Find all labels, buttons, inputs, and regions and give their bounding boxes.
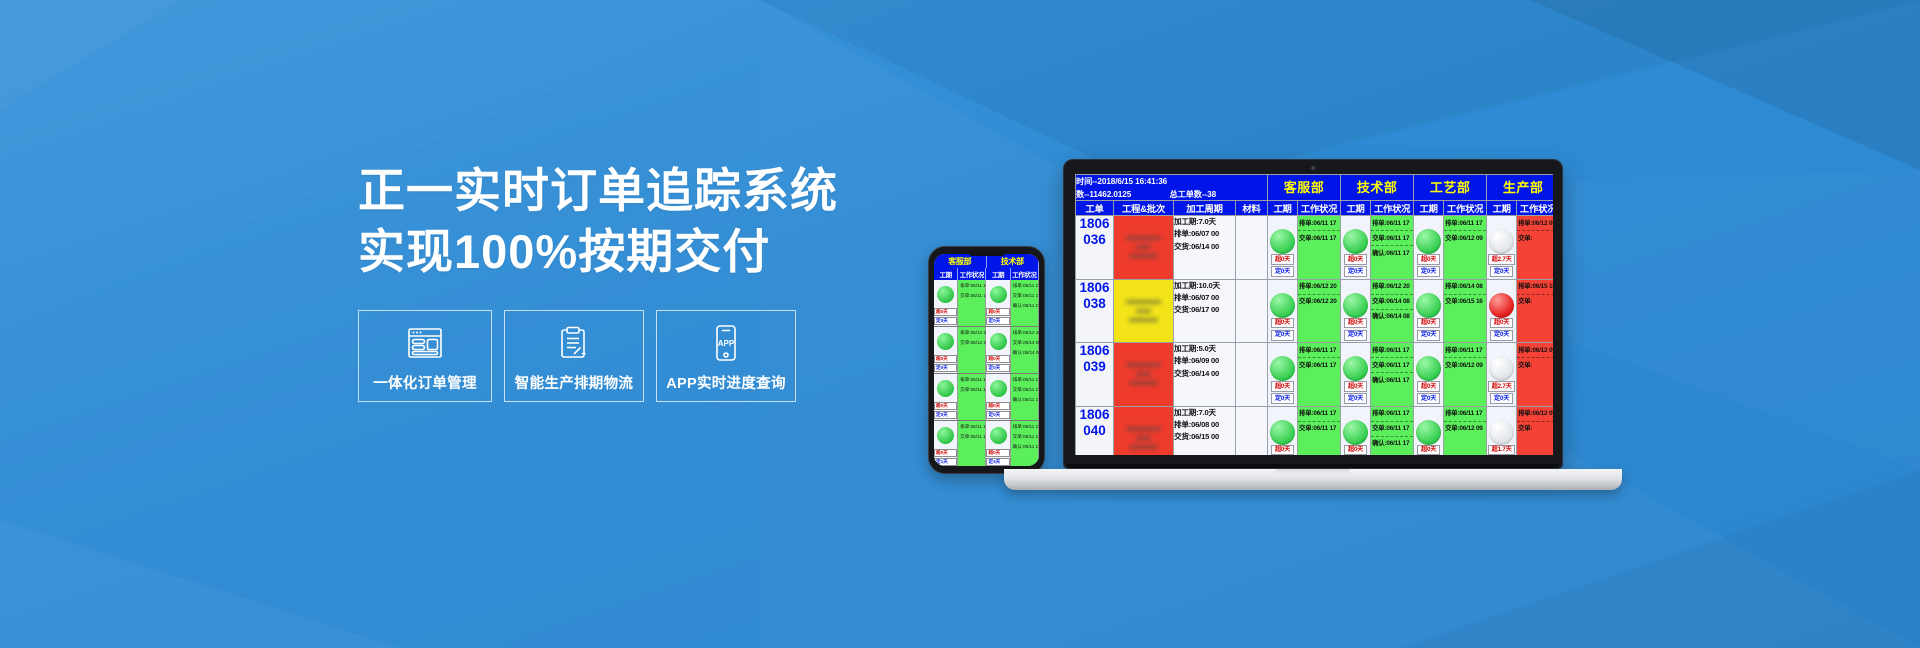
cycle-line: 交货:06/14 00 (1174, 368, 1235, 380)
day-tags: 超0天定0天 (1268, 318, 1297, 341)
hero-text-block: 正一实时订单追踪系统 实现100%按期交付 (358, 160, 898, 402)
table-row[interactable]: 1806040加工期:7.0天排单:06/08 00交货:06/15 00超0天… (1076, 406, 1554, 455)
fixed-days-badge: 定0天 (1344, 266, 1366, 277)
phone-subhead-gongqi-2: 工期 (986, 268, 1010, 280)
phone-status-dot-green (990, 380, 1007, 397)
cycle-line: 加工期:5.0天 (1174, 343, 1235, 355)
phone-over-days-badge: 超0天 (986, 355, 1009, 363)
phone-status-dot-green (937, 286, 954, 303)
cycle-line: 交货:06/17 00 (1174, 304, 1235, 316)
dept-header-shengchan: 生产部 (1487, 175, 1553, 201)
period-cell-1: 超0天定4天 (1341, 406, 1371, 455)
status-line: 交单:06/11 17 (1371, 422, 1413, 437)
meta-counts: 数--11462.0125 总工单数--38 (1076, 188, 1267, 200)
phone-status-line: 排单:06/11 17 (1011, 421, 1038, 431)
work-order-line-2: 036 (1076, 232, 1113, 248)
project-batch-cell (1114, 406, 1174, 455)
status-line: 交单:06/11 17 (1371, 358, 1413, 373)
table-row[interactable]: 1806038加工期:10.0天排单:06/07 00交货:06/17 00超0… (1076, 279, 1554, 343)
col-header-3-0: 工期 (1487, 201, 1517, 216)
browser-window-icon (406, 323, 444, 363)
col-header-2-0: 工期 (1414, 201, 1444, 216)
redacted-project-text (1114, 407, 1173, 456)
material-cell (1236, 216, 1268, 280)
day-tags: 超0天定0天 (1487, 318, 1516, 341)
status-dot-green (1416, 293, 1441, 318)
period-cell-0: 超0天定0天 (1268, 343, 1298, 407)
cycle-line: 排单:06/08 00 (1174, 419, 1235, 431)
status-line: 排单:06/11 17 (1444, 216, 1486, 231)
col-header-base-2: 加工周期 (1174, 201, 1236, 216)
work-order-line-1: 1806 (1076, 407, 1113, 423)
phone-row-list: 超0天定0天排单:06/11 17交单:06/11 17超0天定0天排单:06/… (934, 280, 1039, 466)
period-cell-2: 超0天定0天 (1414, 279, 1444, 343)
period-cell-3: 超2.7天定0天 (1487, 343, 1517, 407)
over-days-badge: 超0天 (1271, 445, 1293, 456)
work-order-line-1: 1806 (1076, 343, 1113, 359)
status-dot-green (1343, 356, 1368, 381)
phone-fixed-days-badge: 定0天 (934, 364, 957, 372)
feature-label: 智能生产排期物流 (515, 372, 633, 393)
phone-status-line: 交单:06/12 20 (958, 337, 985, 347)
phone-period-cell-kefu: 超0天定0天 (934, 327, 958, 373)
phone-status-line: 排单:06/12 20 (1011, 327, 1038, 337)
processing-cycle-cell: 加工期:7.0天排单:06/08 00交货:06/15 00 (1174, 406, 1236, 455)
period-cell-0: 超0天定1天 (1268, 406, 1298, 455)
work-status-cell-0: 排单:06/11 17交单:06/11 17 (1298, 216, 1341, 280)
work-status-cell-0: 排单:06/12 20交单:06/12 20 (1298, 279, 1341, 343)
work-order-cell: 1806036 (1076, 216, 1114, 280)
work-status-cell-2: 排单:06/11 17交单:06/12 09 (1444, 406, 1487, 455)
status-line: 排单:06/12 09 (1517, 216, 1553, 231)
headline-line-1: 正一实时订单追踪系统 (358, 164, 838, 217)
fixed-days-badge: 定0天 (1417, 393, 1439, 404)
phone-status-line: 确认:06/11 17 (1011, 441, 1038, 451)
phone-dept-jishu: 技术部 (987, 254, 1040, 268)
status-line: 交单:06/12 20 (1298, 295, 1340, 309)
cycle-line: 排单:06/07 00 (1174, 292, 1235, 304)
phone-period-cell-jishu: 超0天定0天 (986, 280, 1010, 326)
status-dot-red (1489, 293, 1514, 318)
status-line: 交单:06/15 16 (1444, 295, 1486, 309)
status-dot-green (1416, 229, 1441, 254)
period-cell-3: 超0天定0天 (1487, 279, 1517, 343)
col-header-1-1: 工作状况 (1371, 201, 1414, 216)
phone-table-row[interactable]: 超0天定0天排单:06/12 20交单:06/12 20超0天定0天排单:06/… (934, 327, 1039, 374)
over-days-badge: 超2.7天 (1488, 381, 1515, 392)
status-line: 交单:06/11 17 (1298, 422, 1340, 436)
status-line: 交单:06/11 17 (1298, 358, 1340, 372)
cycle-line: 加工期:10.0天 (1174, 280, 1235, 292)
phone-fixed-days-badge: 定0天 (986, 411, 1009, 419)
phone-fixed-days-badge: 定4天 (986, 458, 1009, 466)
dept-name: 客服部 (1268, 175, 1340, 199)
status-dot-green (1343, 420, 1368, 445)
fixed-days-badge: 定0天 (1490, 393, 1512, 404)
status-line: 确认:06/14 08 (1371, 310, 1413, 324)
fixed-days-badge: 定0天 (1490, 266, 1512, 277)
laptop-base (1004, 469, 1622, 490)
dept-name: 技术部 (1341, 175, 1413, 199)
col-header-base-3: 材料 (1236, 201, 1268, 216)
day-tags: 超0天定3天 (1414, 445, 1443, 456)
over-days-badge: 超0天 (1271, 318, 1293, 329)
cycle-line: 加工期:7.0天 (1174, 407, 1235, 419)
status-dot-gray (1489, 229, 1514, 254)
phone-status-cell-kefu: 排单:06/11 17交单:06/11 17 (958, 374, 986, 420)
clipboard-pencil-icon (557, 323, 591, 363)
cycle-line: 排单:06/09 00 (1174, 355, 1235, 367)
phone-status-dot-green (937, 380, 954, 397)
over-days-badge: 超0天 (1417, 381, 1439, 392)
work-status-cell-1: 排单:06/12 20交单:06/14 08确认:06/14 08 (1371, 279, 1414, 343)
over-days-badge: 超0天 (1344, 254, 1366, 265)
day-tags: 超0天定0天 (1341, 381, 1370, 404)
status-line: 交单:06/11 17 (1371, 231, 1413, 246)
over-days-badge: 超0天 (1417, 318, 1439, 329)
col-header-0-1: 工作状况 (1298, 201, 1341, 216)
phone-over-days-badge: 超0天 (986, 308, 1009, 316)
col-header-1-0: 工期 (1341, 201, 1371, 216)
feature-label: 一体化订单管理 (373, 372, 477, 393)
phone-fixed-days-badge: 定0天 (934, 411, 957, 419)
period-cell-2: 超0天定0天 (1414, 343, 1444, 407)
status-line: 排单:06/12 09 (1517, 343, 1553, 358)
fixed-days-badge: 定0天 (1344, 330, 1366, 341)
phone-status-cell-kefu: 排单:06/12 20交单:06/12 20 (958, 327, 986, 373)
current-time-label: 时间--2018/6/15 16:41:36 (1076, 175, 1267, 187)
phone-status-dot-green (990, 333, 1007, 350)
period-cell-0: 超0天定0天 (1268, 279, 1298, 343)
work-status-cell-3: 排单:06/12 09交单: (1517, 216, 1553, 280)
status-dot-green (1270, 356, 1295, 381)
mobile-app-icon: APP (711, 323, 741, 363)
status-line: 交单: (1517, 422, 1553, 436)
phone-subheader-row: 工期 工作状况 工期 工作状况 (934, 268, 1039, 280)
status-line: 交单:06/14 08 (1371, 295, 1413, 310)
project-batch-cell (1114, 216, 1174, 280)
status-line: 排单:06/12 09 (1517, 407, 1553, 422)
table-body: 1806036加工期:7.0天排单:06/07 00交货:06/14 00超0天… (1076, 216, 1554, 456)
over-days-badge: 超0天 (1417, 254, 1439, 265)
work-order-cell: 1806039 (1076, 343, 1114, 407)
work-status-cell-3: 排单:06/12 09交单: (1517, 406, 1553, 455)
table-meta-row: 时间--2018/6/15 16:41:36 数--11462.0125 总工单… (1076, 175, 1554, 201)
work-order-line-2: 039 (1076, 359, 1113, 375)
day-tags: 超0天定0天 (1341, 254, 1370, 277)
day-tags: 超2.7天定0天 (1487, 381, 1516, 404)
phone-status-dot-green (937, 427, 954, 444)
laptop-lid: 时间--2018/6/15 16:41:36 数--11462.0125 总工单… (1063, 159, 1563, 469)
table-row[interactable]: 1806036加工期:7.0天排单:06/07 00交货:06/14 00超0天… (1076, 216, 1554, 280)
phone-fixed-days-badge: 定0天 (986, 364, 1009, 372)
fixed-days-badge: 定0天 (1271, 393, 1293, 404)
phone-status-line: 确认:06/14 08 (1011, 347, 1038, 357)
webcam-icon (1311, 166, 1315, 170)
redacted-project-text (1114, 343, 1173, 406)
app-badge-text: APP (718, 339, 735, 348)
dept-header-kefu: 客服部 (1268, 175, 1341, 201)
phone-period-cell-jishu: 超0天定4天 (986, 421, 1010, 466)
work-status-cell-2: 排单:06/11 17交单:06/12 09 (1444, 343, 1487, 407)
status-dot-green (1343, 229, 1368, 254)
laptop-hinge (1067, 464, 1559, 468)
headline-line-2: 实现100%按期交付 (358, 221, 898, 282)
processing-cycle-cell: 加工期:10.0天排单:06/07 00交货:06/17 00 (1174, 279, 1236, 343)
status-line: 交单:06/12 09 (1444, 231, 1486, 245)
laptop-mockup: 时间--2018/6/15 16:41:36 数--11462.0125 总工单… (1063, 159, 1563, 490)
status-line: 交单: (1517, 231, 1553, 245)
col-header-3-1: 工作状况 (1517, 201, 1553, 216)
over-days-badge: 超2.7天 (1488, 254, 1515, 265)
project-batch-cell (1114, 343, 1174, 407)
smartphone-mockup: 客服部 技术部 工期 工作状况 工期 工作状况 超0天定0天排单:06/11 1… (928, 246, 1045, 474)
phone-status-line: 交单:06/11 17 (1011, 431, 1038, 441)
phone-status-dot-green (990, 286, 1007, 303)
fixed-days-badge: 定0天 (1271, 330, 1293, 341)
work-status-cell-1: 排单:06/11 17交单:06/11 17确认:06/11 17 (1371, 406, 1414, 455)
work-order-line-2: 040 (1076, 423, 1113, 439)
feature-list: 一体化订单管理 智能生产排期物流 (358, 310, 898, 402)
status-line: 排单:06/14 08 (1444, 280, 1486, 295)
day-tags: 超0天定0天 (1414, 381, 1443, 404)
phone-status-cell-jishu: 排单:06/11 17交单:06/11 17确认:06/11 17 (1011, 280, 1039, 326)
table-row[interactable]: 1806039加工期:5.0天排单:06/09 00交货:06/14 00超0天… (1076, 343, 1554, 407)
cycle-line: 排单:06/07 00 (1174, 228, 1235, 240)
phone-table-row[interactable]: 超0天定1天排单:06/11 17交单:06/11 17超0天定4天排单:06/… (934, 421, 1039, 466)
phone-over-days-badge: 超0天 (934, 449, 957, 457)
work-order-cell: 1806038 (1076, 279, 1114, 343)
redacted-project-text (1114, 216, 1173, 279)
day-tags: 超0天定0天 (1414, 318, 1443, 341)
phone-status-line: 交单:06/11 17 (1011, 384, 1038, 394)
status-line: 交单:06/11 17 (1298, 231, 1340, 245)
phone-status-line: 排单:06/11 17 (958, 280, 985, 290)
status-line: 排单:06/11 17 (1298, 216, 1340, 231)
phone-fixed-days-badge: 定1天 (934, 458, 957, 466)
processing-cycle-cell: 加工期:7.0天排单:06/07 00交货:06/14 00 (1174, 216, 1236, 280)
fixed-days-badge: 定0天 (1417, 330, 1439, 341)
status-dot-gray (1489, 420, 1514, 445)
over-days-badge: 超0天 (1271, 381, 1293, 392)
dept-header-gongyi: 工艺部 (1414, 175, 1487, 201)
feature-order-management[interactable]: 一体化订单管理 (358, 310, 492, 402)
order-tracking-table[interactable]: 时间--2018/6/15 16:41:36 数--11462.0125 总工单… (1075, 174, 1553, 455)
day-tags: 超0天定0天 (1268, 254, 1297, 277)
day-tags: 超2.7天定0天 (1487, 254, 1516, 277)
status-dot-green (1416, 356, 1441, 381)
col-header-0-0: 工期 (1268, 201, 1298, 216)
laptop-screen[interactable]: 时间--2018/6/15 16:41:36 数--11462.0125 总工单… (1075, 174, 1553, 455)
status-dot-green (1270, 229, 1295, 254)
col-header-2-1: 工作状况 (1444, 201, 1487, 216)
phone-status-cell-jishu: 排单:06/11 17交单:06/11 17确认:06/11 17 (1011, 421, 1039, 466)
status-line: 排单:06/12 20 (1371, 280, 1413, 295)
phone-status-dot-green (937, 333, 954, 350)
phone-status-line: 交单:06/11 17 (958, 431, 985, 441)
table-subheader-row: 工单工程&批次加工周期材料工期工作状况工期工作状况工期工作状况工期工作状况工期工… (1076, 201, 1554, 216)
phone-status-line: 排单:06/11 17 (1011, 280, 1038, 290)
status-line: 排单:06/12 20 (1298, 280, 1340, 295)
phone-status-line: 排单:06/12 20 (958, 327, 985, 337)
phone-subhead-gongqi-1: 工期 (934, 268, 958, 280)
status-line: 排单:06/11 17 (1371, 407, 1413, 422)
phone-status-line: 排单:06/11 17 (958, 421, 985, 431)
phone-status-line: 交单:06/11 17 (1011, 290, 1038, 300)
over-days-badge: 超0天 (1271, 254, 1293, 265)
period-cell-2: 超0天定3天 (1414, 406, 1444, 455)
dept-name: 工艺部 (1414, 175, 1486, 199)
phone-over-days-badge: 超0天 (934, 402, 957, 410)
over-days-badge: 超1.7天 (1488, 445, 1515, 456)
day-tags: 超0天定1天 (1268, 445, 1297, 456)
status-line: 排单:06/11 17 (1371, 343, 1413, 358)
work-order-line-1: 1806 (1076, 280, 1113, 296)
phone-fixed-days-badge: 定0天 (986, 317, 1009, 325)
phone-status-cell-jishu: 排单:06/12 20交单:06/14 08确认:06/14 08 (1011, 327, 1039, 373)
status-line: 排单:06/11 17 (1298, 407, 1340, 422)
col-header-base-0: 工单 (1076, 201, 1114, 216)
phone-period-cell-kefu: 超0天定0天 (934, 280, 958, 326)
material-cell (1236, 279, 1268, 343)
period-cell-2: 超0天定0天 (1414, 216, 1444, 280)
phone-notch (967, 250, 1007, 256)
period-cell-3: 超2.7天定0天 (1487, 216, 1517, 280)
status-line: 排单:06/11 17 (1444, 407, 1486, 422)
status-line: 排单:06/11 17 (1444, 343, 1486, 358)
table-head: 时间--2018/6/15 16:41:36 数--11462.0125 总工单… (1076, 175, 1554, 216)
feature-label: APP实时进度查询 (666, 372, 786, 393)
phone-over-days-badge: 超0天 (986, 449, 1009, 457)
work-status-cell-0: 排单:06/11 17交单:06/11 17 (1298, 343, 1341, 407)
status-line: 排单:06/11 17 (1298, 343, 1340, 358)
status-line: 确认:06/11 17 (1371, 246, 1413, 260)
page-title: 正一实时订单追踪系统 实现100%按期交付 (358, 160, 898, 282)
work-status-cell-2: 排单:06/14 08交单:06/15 16 (1444, 279, 1487, 343)
phone-screen[interactable]: 客服部 技术部 工期 工作状况 工期 工作状况 超0天定0天排单:06/11 1… (934, 254, 1039, 466)
feature-app-progress-query[interactable]: APP APP实时进度查询 (656, 310, 796, 402)
phone-status-line: 确认:06/11 17 (1011, 300, 1038, 310)
phone-status-line: 确认:06/11 17 (1011, 394, 1038, 404)
phone-status-line: 交单:06/14 08 (1011, 337, 1038, 347)
status-line: 交单: (1517, 358, 1553, 372)
col-header-base-1: 工程&批次 (1114, 201, 1174, 216)
day-tags: 超1.7天定5天 (1487, 445, 1516, 456)
work-status-cell-1: 排单:06/11 17交单:06/11 17确认:06/11 17 (1371, 216, 1414, 280)
dept-header-jishu: 技术部 (1341, 175, 1414, 201)
day-tags: 超0天定0天 (1341, 318, 1370, 341)
status-line: 交单:06/12 09 (1444, 358, 1486, 372)
phone-fixed-days-badge: 定0天 (934, 317, 957, 325)
over-days-badge: 超0天 (1344, 381, 1366, 392)
promo-banner: 正一实时订单追踪系统 实现100%按期交付 (0, 0, 1920, 648)
phone-dept-kefu: 客服部 (934, 254, 987, 268)
over-days-badge: 超0天 (1490, 318, 1512, 329)
phone-status-line: 排单:06/11 17 (958, 374, 985, 384)
period-cell-1: 超0天定0天 (1341, 343, 1371, 407)
work-status-cell-1: 排单:06/11 17交单:06/11 17确认:06/11 17 (1371, 343, 1414, 407)
meta-info-cell: 时间--2018/6/15 16:41:36 数--11462.0125 总工单… (1076, 175, 1268, 201)
work-status-cell-3: 排单:06/15 16交单: (1517, 279, 1553, 343)
day-tags: 超0天定0天 (1414, 254, 1443, 277)
dept-name: 生产部 (1487, 175, 1553, 199)
material-cell (1236, 343, 1268, 407)
phone-table-row[interactable]: 超0天定0天排单:06/11 17交单:06/11 17超0天定0天排单:06/… (934, 374, 1039, 421)
phone-period-cell-jishu: 超0天定0天 (986, 327, 1010, 373)
project-batch-cell (1114, 279, 1174, 343)
period-cell-0: 超0天定0天 (1268, 216, 1298, 280)
phone-status-line: 交单:06/11 17 (958, 290, 985, 300)
day-tags: 超0天定4天 (1341, 445, 1370, 456)
period-cell-3: 超1.7天定5天 (1487, 406, 1517, 455)
phone-table-row[interactable]: 超0天定0天排单:06/11 17交单:06/11 17超0天定0天排单:06/… (934, 280, 1039, 327)
material-cell (1236, 406, 1268, 455)
phone-dept-header: 客服部 技术部 (934, 254, 1039, 268)
status-dot-green (1416, 420, 1441, 445)
work-status-cell-3: 排单:06/12 09交单: (1517, 343, 1553, 407)
cycle-line: 交货:06/14 00 (1174, 241, 1235, 253)
redacted-project-text (1114, 280, 1173, 343)
status-line: 排单:06/15 16 (1517, 280, 1553, 295)
fixed-days-badge: 定0天 (1271, 266, 1293, 277)
phone-status-line: 排单:06/11 17 (1011, 374, 1038, 384)
status-line: 交单:06/12 09 (1444, 422, 1486, 436)
status-line: 确认:06/11 17 (1371, 437, 1413, 451)
phone-status-cell-kefu: 排单:06/11 17交单:06/11 17 (958, 421, 986, 466)
phone-status-line: 交单:06/11 17 (958, 384, 985, 394)
phone-status-cell-kefu: 排单:06/11 17交单:06/11 17 (958, 280, 986, 326)
cycle-line: 交货:06/15 00 (1174, 431, 1235, 443)
over-days-badge: 超0天 (1344, 318, 1366, 329)
status-line: 交单: (1517, 295, 1553, 309)
phone-over-days-badge: 超0天 (934, 308, 957, 316)
phone-subhead-status-2: 工作状况 (1011, 268, 1039, 280)
status-dot-green (1343, 293, 1368, 318)
work-order-line-2: 038 (1076, 296, 1113, 312)
count-label: 数--11462.0125 (1076, 190, 1131, 199)
cycle-line: 加工期:7.0天 (1174, 216, 1235, 228)
status-dot-green (1270, 420, 1295, 445)
period-cell-1: 超0天定0天 (1341, 216, 1371, 280)
over-days-badge: 超0天 (1344, 445, 1366, 456)
phone-period-cell-kefu: 超0天定0天 (934, 374, 958, 420)
over-days-badge: 超0天 (1417, 445, 1439, 456)
status-line: 排单:06/11 17 (1371, 216, 1413, 231)
processing-cycle-cell: 加工期:5.0天排单:06/09 00交货:06/14 00 (1174, 343, 1236, 407)
phone-subhead-status-1: 工作状况 (958, 268, 986, 280)
day-tags: 超0天定0天 (1268, 381, 1297, 404)
status-line: 确认:06/11 17 (1371, 373, 1413, 387)
status-dot-green (1270, 293, 1295, 318)
period-cell-1: 超0天定0天 (1341, 279, 1371, 343)
total-orders-label: 总工单数--38 (1170, 190, 1217, 199)
status-dot-gray (1489, 356, 1514, 381)
phone-status-cell-jishu: 排单:06/11 17交单:06/11 17确认:06/11 17 (1011, 374, 1039, 420)
phone-over-days-badge: 超0天 (986, 402, 1009, 410)
phone-period-cell-jishu: 超0天定0天 (986, 374, 1010, 420)
fixed-days-badge: 定0天 (1344, 393, 1366, 404)
work-status-cell-2: 排单:06/11 17交单:06/12 09 (1444, 216, 1487, 280)
work-status-cell-0: 排单:06/11 17交单:06/11 17 (1298, 406, 1341, 455)
phone-over-days-badge: 超0天 (934, 355, 957, 363)
phone-period-cell-kefu: 超0天定1天 (934, 421, 958, 466)
work-order-cell: 1806040 (1076, 406, 1114, 455)
phone-status-dot-green (990, 427, 1007, 444)
fixed-days-badge: 定0天 (1417, 266, 1439, 277)
feature-production-scheduling[interactable]: 智能生产排期物流 (504, 310, 644, 402)
fixed-days-badge: 定0天 (1490, 330, 1512, 341)
work-order-line-1: 1806 (1076, 216, 1113, 232)
